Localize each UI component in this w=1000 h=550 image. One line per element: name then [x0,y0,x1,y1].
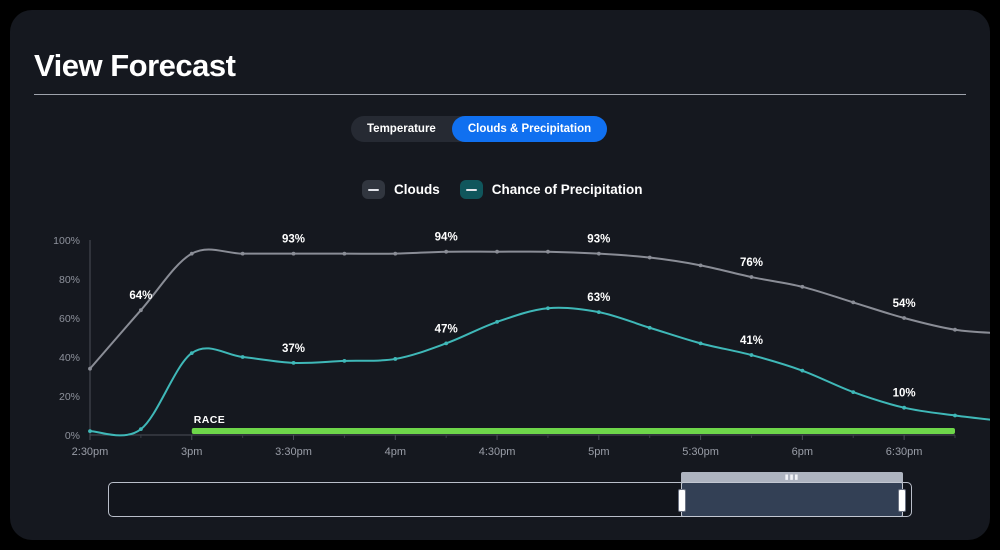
svg-text:100%: 100% [53,235,80,247]
legend-item-precipitation[interactable]: Chance of Precipitation [460,180,643,199]
svg-text:63%: 63% [587,292,610,304]
svg-text:3pm: 3pm [181,446,202,458]
svg-text:40%: 40% [59,352,80,364]
forecast-card: View Forecast Temperature Clouds & Preci… [10,10,990,540]
range-handle-left[interactable] [678,489,686,512]
race-band: RACE [192,414,955,434]
forecast-chart[interactable]: 0%20%40%60%80%100% 2:30pm3pm3:30pm4pm4:3… [10,220,990,460]
title-divider [34,94,966,95]
svg-text:94%: 94% [435,232,458,244]
range-selection[interactable] [681,482,903,517]
svg-text:54%: 54% [893,298,916,310]
svg-text:47%: 47% [435,323,458,335]
svg-text:76%: 76% [740,257,763,269]
svg-text:0%: 0% [65,430,80,442]
page-title: View Forecast [34,48,235,84]
svg-text:2:30pm: 2:30pm [72,446,109,458]
data-labels: 64%93%94%93%76%54%37%47%63%41%10% [129,232,915,400]
chart-legend: Clouds Chance of Precipitation [362,180,643,199]
legend-label-precipitation: Chance of Precipitation [492,182,643,197]
range-selector-track[interactable]: ▮▮▮ [108,482,912,517]
x-axis: 2:30pm3pm3:30pm4pm4:30pm5pm5:30pm6pm6:30… [72,435,955,458]
legend-label-clouds: Clouds [394,182,440,197]
svg-text:5pm: 5pm [588,446,609,458]
tab-temperature[interactable]: Temperature [351,116,452,142]
tab-clouds-precipitation[interactable]: Clouds & Precipitation [452,116,607,142]
clouds-swatch-icon [362,180,385,199]
svg-text:37%: 37% [282,343,305,355]
chart-canvas[interactable]: 0%20%40%60%80%100% 2:30pm3pm3:30pm4pm4:3… [10,220,990,460]
svg-text:RACE: RACE [194,414,225,426]
range-handle-right[interactable] [898,489,906,512]
svg-text:3:30pm: 3:30pm [275,446,312,458]
y-axis: 0%20%40%60%80%100% [53,235,90,442]
svg-text:6:30pm: 6:30pm [886,446,923,458]
svg-text:64%: 64% [129,290,152,302]
series-lines[interactable] [88,249,990,435]
svg-text:41%: 41% [740,335,763,347]
svg-text:6pm: 6pm [792,446,813,458]
view-mode-toggle[interactable]: Temperature Clouds & Precipitation [351,116,607,142]
grip-icon: ▮▮▮ [785,474,800,481]
legend-item-clouds[interactable]: Clouds [362,180,440,199]
svg-text:10%: 10% [893,388,916,400]
svg-text:5:30pm: 5:30pm [682,446,719,458]
svg-text:4:30pm: 4:30pm [479,446,516,458]
svg-text:20%: 20% [59,391,80,403]
svg-text:60%: 60% [59,313,80,325]
svg-text:93%: 93% [282,234,305,246]
svg-text:80%: 80% [59,274,80,286]
precipitation-swatch-icon [460,180,483,199]
svg-text:4pm: 4pm [385,446,406,458]
svg-text:93%: 93% [587,234,610,246]
